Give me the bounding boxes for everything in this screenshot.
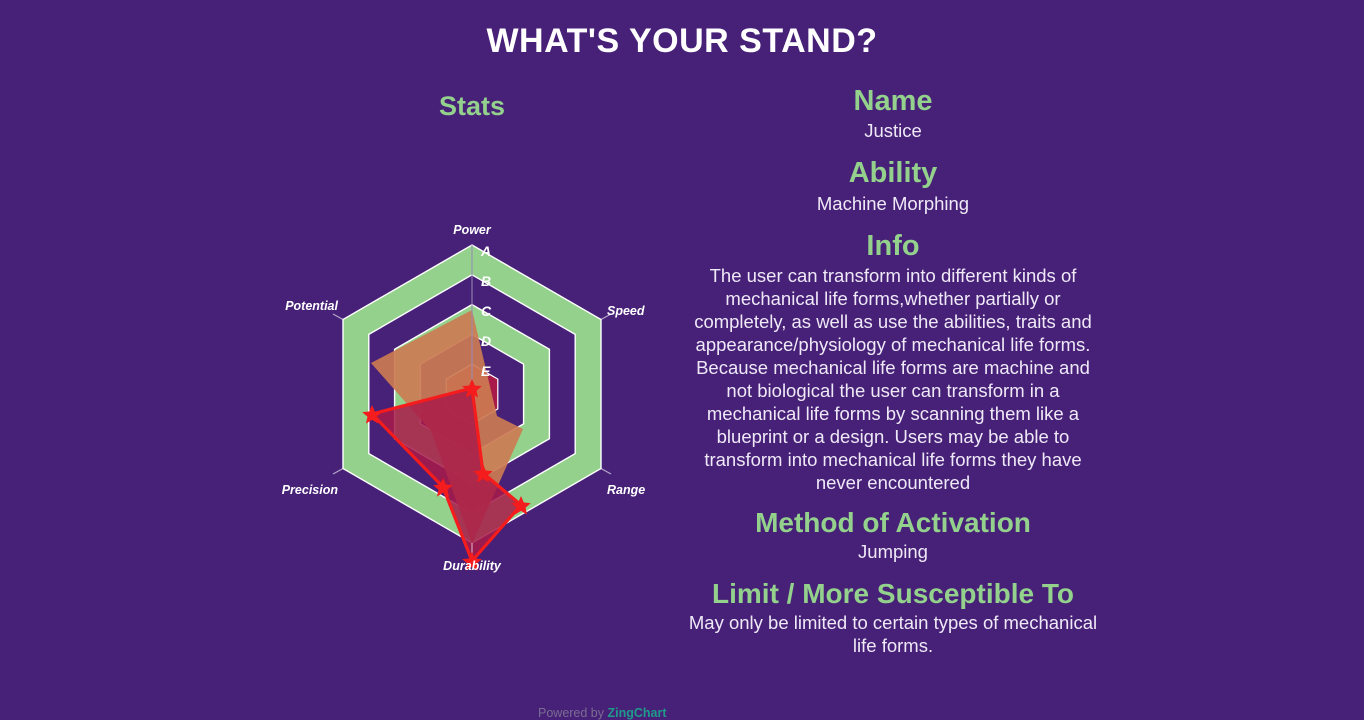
info-block-info: Info The user can transform into differe… [686,231,1100,494]
ability-value: Machine Morphing [686,192,1100,215]
info-block-name: Name Justice [686,86,1100,142]
radar-chart[interactable]: A B C D E Power Speed Range Durability P… [0,78,680,648]
zingchart-credit[interactable]: Powered by ZingChart [538,706,667,720]
method-heading: Method of Activation [686,508,1100,538]
scale-label-d: D [481,333,491,349]
axis-label-speed: Speed [607,304,645,318]
axis-label-power: Power [453,223,492,237]
name-heading: Name [686,86,1100,117]
ability-heading: Ability [686,158,1100,189]
info-value: The user can transform into different ki… [686,264,1100,494]
scale-label-b: B [481,273,491,289]
scale-label-e: E [481,363,491,379]
stats-chart-panel: Stats [0,78,680,648]
character-info-panel: Name Justice Ability Machine Morphing In… [686,86,1100,673]
scale-label-a: A [480,243,491,259]
page-title: WHAT'S YOUR STAND? [0,22,1364,61]
limit-heading: Limit / More Susceptible To [686,579,1100,609]
info-block-method: Method of Activation Jumping [686,508,1100,563]
info-heading: Info [686,231,1100,262]
info-block-limit: Limit / More Susceptible To May only be … [686,579,1100,657]
credit-prefix: Powered by [538,706,607,720]
info-block-ability: Ability Machine Morphing [686,158,1100,214]
axis-label-durability: Durability [443,559,502,573]
scale-label-c: C [481,303,492,319]
method-value: Jumping [686,540,1100,563]
axis-label-potential: Potential [285,299,338,313]
axis-label-precision: Precision [282,483,339,497]
limit-value: May only be limited to certain types of … [686,611,1100,657]
name-value: Justice [686,119,1100,142]
zingchart-link[interactable]: ZingChart [607,706,666,720]
axis-label-range: Range [607,483,645,497]
